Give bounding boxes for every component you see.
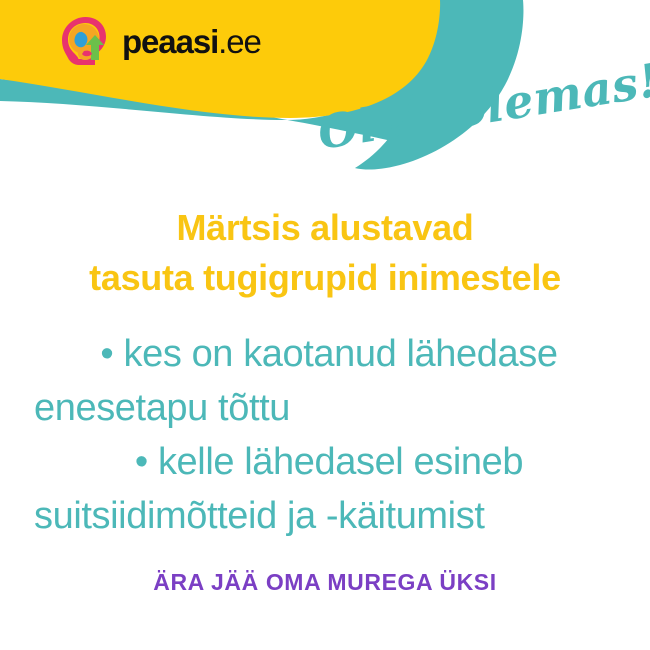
brand-wordmark-main: peaasi <box>122 23 218 60</box>
bullet-2-second-line: suitsiidimõtteid ja -käitumist <box>34 489 624 543</box>
poster-canvas: peaasi.ee Olen olemas! Märtsis alustavad… <box>0 0 650 650</box>
brand-wordmark: peaasi.ee <box>122 25 261 60</box>
headline-line-1: Märtsis alustavad <box>0 203 650 253</box>
bullet-1-second-line: enesetapu tõttu <box>34 381 624 435</box>
brand-wordmark-tld: .ee <box>218 23 261 60</box>
brand-logo[interactable]: peaasi.ee <box>58 14 261 70</box>
script-tagline-text: Olen olemas! <box>315 57 650 156</box>
bullet-list: • kes on kaotanud lähedase enesetapu tõt… <box>34 327 624 543</box>
bullet-2-first-line: • kelle lähedasel esineb <box>34 435 624 489</box>
headline: Märtsis alustavad tasuta tugigrupid inim… <box>0 203 650 303</box>
list-item: • kelle lähedasel esineb suitsiidimõttei… <box>34 435 624 543</box>
bullet-1-first-line: • kes on kaotanud lähedase <box>34 327 624 381</box>
footer-slogan: ÄRA JÄÄ OMA MUREGA ÜKSI <box>0 567 650 597</box>
peaasi-head-logo-icon <box>58 15 112 69</box>
list-item: • kes on kaotanud lähedase enesetapu tõt… <box>34 327 624 435</box>
script-tagline: Olen olemas! <box>322 90 642 160</box>
headline-line-2: tasuta tugigrupid inimestele <box>0 253 650 303</box>
